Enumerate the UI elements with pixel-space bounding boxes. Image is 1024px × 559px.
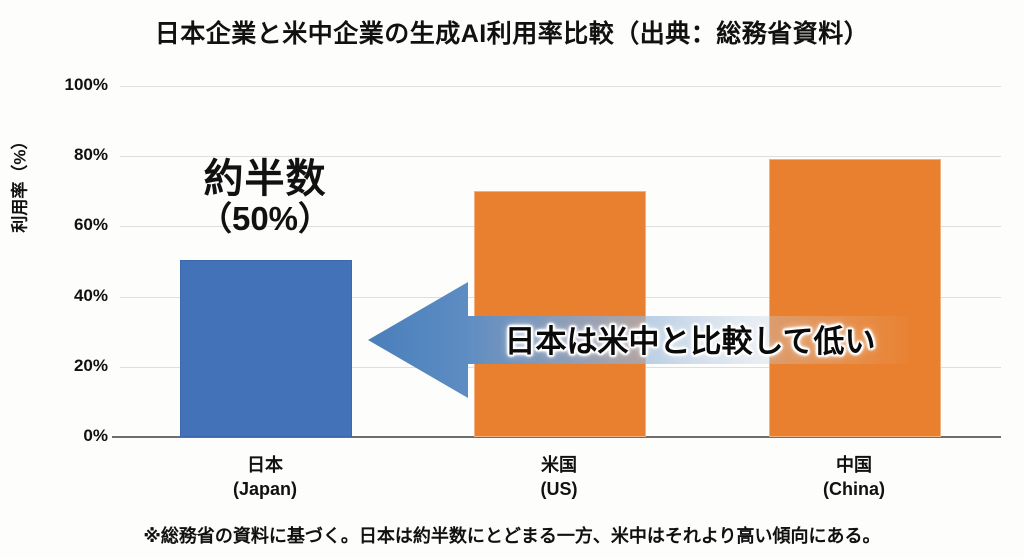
x-label-japan-en: (Japan) <box>140 477 390 501</box>
y-tick-label-80: 80% <box>8 145 108 165</box>
bar-japan[interactable] <box>180 260 352 438</box>
chart-canvas: 日本企業と米中企業の生成AI利用率比較（出典：総務省資料） 利用率（%） 100… <box>0 0 1024 559</box>
footnote: ※総務省の資料に基づく。日本は約半数にとどまる一方、米中はそれより高い傾向にある… <box>0 522 1024 548</box>
japan-callout-value: （50%） <box>120 201 410 238</box>
page-title: 日本企業と米中企業の生成AI利用率比較（出典：総務省資料） <box>0 14 1024 50</box>
x-label-us: 米国(US) <box>434 453 684 502</box>
x-label-china-jp: 中国 <box>729 453 979 477</box>
bar-us[interactable] <box>474 191 646 437</box>
gridline-100 <box>120 86 1001 87</box>
y-tick-label-40: 40% <box>8 286 108 306</box>
x-label-us-en: (US) <box>434 477 684 501</box>
x-label-japan: 日本(Japan) <box>140 453 390 502</box>
bar-china[interactable] <box>769 159 941 437</box>
x-label-japan-jp: 日本 <box>140 453 390 477</box>
japan-callout-main: 約半数 <box>120 158 410 201</box>
x-label-china-en: (China) <box>729 477 979 501</box>
y-tick-label-60: 60% <box>8 215 108 235</box>
arrow-caption: 日本は米中と比較して低い <box>470 316 910 361</box>
x-label-us-jp: 米国 <box>434 453 684 477</box>
y-tick-label-100: 100% <box>8 75 108 95</box>
y-tick-label-0: 0% <box>8 426 108 446</box>
plot-area: 100%80%60%40%20%0% <box>120 86 1001 437</box>
y-axis-label: 利用率（%） <box>6 103 31 263</box>
x-label-china: 中国(China) <box>729 453 979 502</box>
japan-callout: 約半数 （50%） <box>120 158 410 238</box>
y-tick-label-20: 20% <box>8 356 108 376</box>
